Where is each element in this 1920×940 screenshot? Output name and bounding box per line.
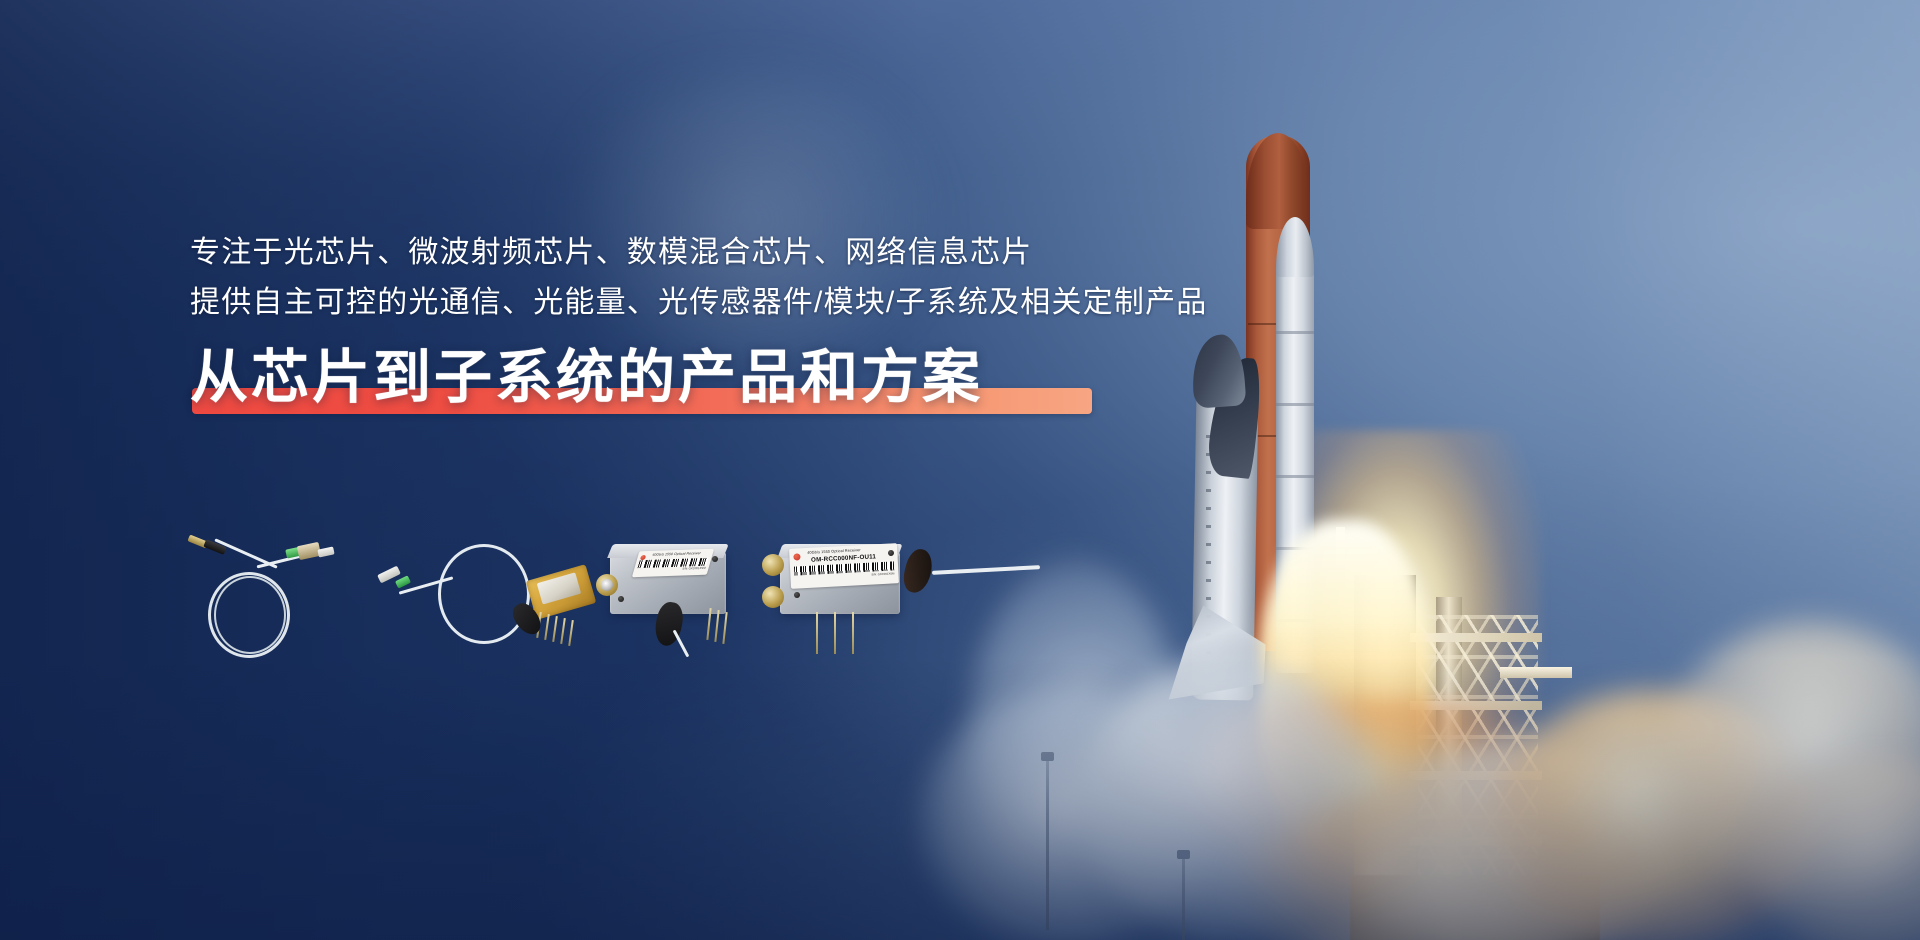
package-pin bbox=[560, 618, 566, 644]
package-pin bbox=[568, 620, 574, 646]
banner-copy: 专注于光芯片、微波射频芯片、数模混合芯片、网络信息芯片 提供自主可控的光通信、光… bbox=[190, 228, 1350, 424]
fiber-connector-apc-green bbox=[395, 575, 411, 588]
module-label: 40Gb/s 1550 Optical Receiver S/N: GXC001… bbox=[632, 549, 714, 578]
bottom-shade-overlay bbox=[0, 658, 1920, 940]
tower-platform bbox=[1410, 633, 1542, 642]
label-title: 40Gb/s 1550 Optical Receiver bbox=[652, 551, 711, 557]
module-pin bbox=[722, 612, 727, 644]
housing-screw bbox=[794, 592, 800, 598]
sma-rf-connector bbox=[762, 554, 784, 576]
module-label: 40Gb/s 1550 Optical Receiver OM-RCC000NF… bbox=[789, 543, 899, 589]
module-pin bbox=[816, 612, 818, 654]
package-pin bbox=[544, 614, 550, 640]
housing-screw bbox=[712, 556, 718, 562]
fiber-strain-boot bbox=[900, 547, 936, 596]
package-lid bbox=[537, 572, 582, 604]
butterfly-package bbox=[526, 564, 597, 620]
subtitle-line-2: 提供自主可控的光通信、光能量、光传感器件/模块/子系统及相关定制产品 bbox=[190, 278, 1350, 328]
product-showcase-row: 40Gb/s 1550 Optical Receiver S/N: GXC001… bbox=[190, 520, 1110, 690]
product-butterfly-laser-module bbox=[380, 528, 600, 668]
fiber-lead bbox=[932, 565, 1040, 575]
module-pin bbox=[852, 612, 854, 654]
product-fiber-patch-cable bbox=[190, 532, 350, 662]
module-pin bbox=[834, 612, 836, 654]
fiber-lead bbox=[673, 630, 690, 658]
fiber-coil-inner bbox=[214, 576, 286, 654]
housing-screw bbox=[618, 596, 624, 602]
hero-banner: 专注于光芯片、微波射频芯片、数模混合芯片、网络信息芯片 提供自主可控的光通信、光… bbox=[0, 0, 1920, 940]
booster-segment-band bbox=[1276, 475, 1314, 478]
sma-center-pin bbox=[601, 579, 613, 591]
module-pin bbox=[714, 610, 719, 642]
headline-block: 从芯片到子系统的产品和方案 bbox=[190, 342, 1350, 424]
product-rf-optical-module: 40Gb/s 1550 Optical Receiver S/N: GXC001… bbox=[588, 534, 768, 664]
subtitle-line-1: 专注于光芯片、微波射频芯片、数模混合芯片、网络信息芯片 bbox=[190, 228, 1350, 278]
fiber-connector-cap bbox=[317, 546, 334, 557]
page-title: 从芯片到子系统的产品和方案 bbox=[190, 342, 1350, 414]
fiber-coil bbox=[438, 544, 530, 644]
sma-rf-connector bbox=[762, 586, 784, 608]
housing-screw bbox=[888, 550, 894, 556]
product-optical-receiver-module: 40Gb/s 1550 Optical Receiver OM-RCC000NF… bbox=[750, 530, 1050, 670]
package-pin bbox=[552, 616, 558, 642]
